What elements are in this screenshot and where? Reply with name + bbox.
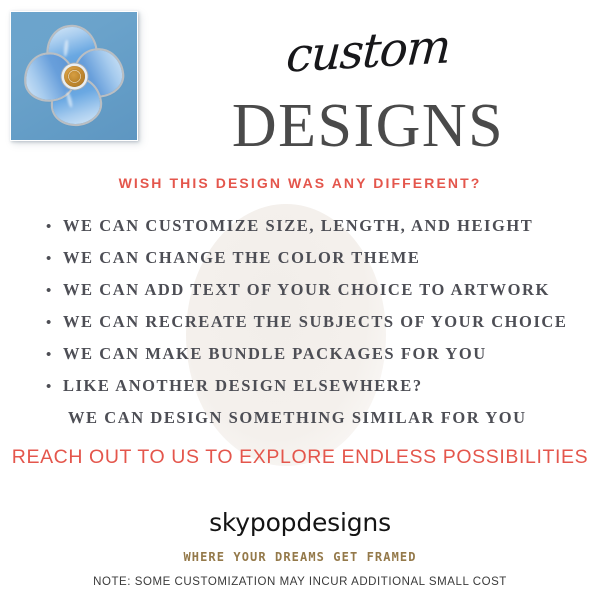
list-item-label: WE CAN RECREATE THE SUBJECTS OF YOUR CHO…	[63, 312, 567, 332]
list-item-label: WE CAN ADD TEXT OF YOUR CHOICE TO ARTWOR…	[63, 280, 550, 300]
flower-icon	[20, 22, 128, 130]
list-item-label: LIKE ANOTHER DESIGN ELSEWHERE?	[63, 376, 423, 396]
list-item: • WE CAN MAKE BUNDLE PACKAGES FOR YOU	[46, 344, 591, 376]
feature-list: • WE CAN CUSTOMIZE SIZE, LENGTH, AND HEI…	[46, 216, 591, 440]
call-to-action-text: REACH OUT TO US TO EXPLORE ENDLESS POSSI…	[0, 446, 600, 469]
list-item: • WE CAN CHANGE THE COLOR THEME	[46, 248, 591, 280]
script-heading: custom	[147, 16, 589, 88]
list-item-continuation: WE CAN DESIGN SOMETHING SIMILAR FOR YOU	[46, 408, 591, 440]
brand-tagline: WHERE YOUR DREAMS GET FRAMED	[0, 550, 600, 564]
bullet-icon: •	[46, 380, 63, 395]
subheading: WISH THIS DESIGN WAS ANY DIFFERENT?	[0, 175, 600, 191]
bullet-icon: •	[46, 252, 63, 267]
custom-designs-poster: custom DESIGNS WISH THIS DESIGN WAS ANY …	[0, 0, 600, 600]
brand-name: skypopdesigns	[0, 508, 600, 537]
list-item-label: WE CAN CUSTOMIZE SIZE, LENGTH, AND HEIGH…	[63, 216, 533, 236]
page-title: DESIGNS	[148, 95, 588, 157]
list-item: • LIKE ANOTHER DESIGN ELSEWHERE?	[46, 376, 591, 408]
bullet-icon: •	[46, 316, 63, 331]
thumbnail-artwork	[13, 14, 135, 138]
list-item: • WE CAN ADD TEXT OF YOUR CHOICE TO ARTW…	[46, 280, 591, 312]
list-item: • WE CAN RECREATE THE SUBJECTS OF YOUR C…	[46, 312, 591, 344]
list-item-label: WE CAN DESIGN SOMETHING SIMILAR FOR YOU	[63, 408, 527, 428]
product-thumbnail[interactable]	[10, 11, 138, 141]
bullet-icon: •	[46, 284, 63, 299]
list-item-label: WE CAN MAKE BUNDLE PACKAGES FOR YOU	[63, 344, 487, 364]
bullet-icon: •	[46, 348, 63, 363]
list-item: • WE CAN CUSTOMIZE SIZE, LENGTH, AND HEI…	[46, 216, 591, 248]
list-item-label: WE CAN CHANGE THE COLOR THEME	[63, 248, 420, 268]
bullet-icon: •	[46, 220, 63, 235]
disclaimer-note: NOTE: SOME CUSTOMIZATION MAY INCUR ADDIT…	[0, 576, 600, 588]
